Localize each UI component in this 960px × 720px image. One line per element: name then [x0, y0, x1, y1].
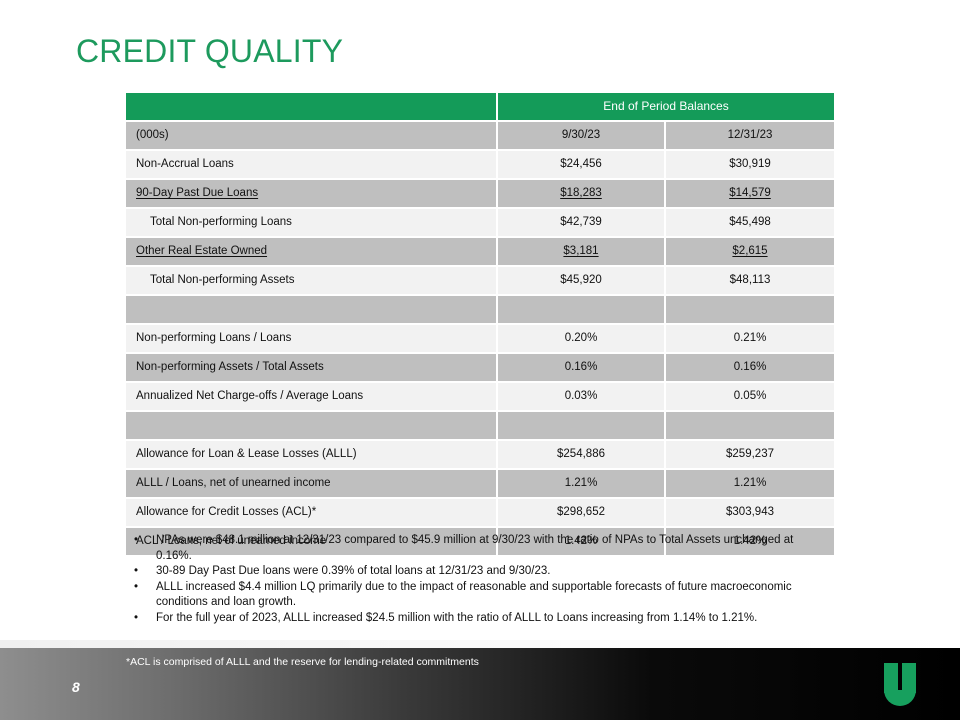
row-value-col1: 0.20%: [498, 325, 666, 354]
row-label: [126, 296, 498, 325]
row-value-col2: $30,919: [666, 151, 834, 180]
row-label: Total Non-performing Loans: [126, 209, 498, 238]
row-value-col1: 0.03%: [498, 383, 666, 412]
logo-bar-left: [884, 663, 898, 693]
table-row: ALLL / Loans, net of unearned income1.21…: [126, 470, 834, 499]
page-number: 8: [72, 679, 80, 695]
table-row: (000s)9/30/2312/31/23: [126, 122, 834, 151]
table-row: Total Non-performing Assets$45,920$48,11…: [126, 267, 834, 296]
row-value-col2: 0.21%: [666, 325, 834, 354]
row-value-col2: $303,943: [666, 499, 834, 528]
table-header-row: End of Period Balances: [126, 93, 834, 122]
bullet-item: •For the full year of 2023, ALLL increas…: [128, 611, 828, 627]
row-value-col2: 0.05%: [666, 383, 834, 412]
row-value-col1: 0.16%: [498, 354, 666, 383]
row-label: Allowance for Credit Losses (ACL)*: [126, 499, 498, 528]
row-label: Total Non-performing Assets: [126, 267, 498, 296]
header-group-label: End of Period Balances: [498, 93, 834, 122]
table-row: Other Real Estate Owned$3,181$2,615: [126, 238, 834, 267]
row-value-text: $2,615: [732, 245, 767, 257]
bullet-marker-icon: •: [128, 611, 156, 627]
page-title: CREDIT QUALITY: [76, 33, 343, 70]
row-value-col1: $42,739: [498, 209, 666, 238]
table-row: 90-Day Past Due Loans$18,283$14,579: [126, 180, 834, 209]
row-value-col2: 12/31/23: [666, 122, 834, 151]
row-label-text: Other Real Estate Owned: [136, 245, 267, 257]
row-value-col1: $45,920: [498, 267, 666, 296]
row-value-col1: $3,181: [498, 238, 666, 267]
logo-bar-right: [902, 663, 916, 693]
row-value-col2: $259,237: [666, 441, 834, 470]
row-value-col1: [498, 412, 666, 441]
row-label: 90-Day Past Due Loans: [126, 180, 498, 209]
row-value-col2: [666, 412, 834, 441]
row-value-col1: $254,886: [498, 441, 666, 470]
company-logo-icon: [884, 663, 920, 709]
row-value-text: $14,579: [729, 187, 771, 199]
table-row: Total Non-performing Loans$42,739$45,498: [126, 209, 834, 238]
bullet-item: •30-89 Day Past Due loans were 0.39% of …: [128, 564, 828, 580]
table-row: Non-Accrual Loans$24,456$30,919: [126, 151, 834, 180]
row-value-col1: $298,652: [498, 499, 666, 528]
row-value-col2: $14,579: [666, 180, 834, 209]
footnote-text: *ACL is comprised of ALLL and the reserv…: [126, 656, 479, 668]
row-value-col2: $2,615: [666, 238, 834, 267]
logo-bowl: [884, 690, 916, 706]
bullet-marker-icon: •: [128, 564, 156, 580]
row-value-col2: 1.21%: [666, 470, 834, 499]
row-value-col1: 1.21%: [498, 470, 666, 499]
table-row: Allowance for Credit Losses (ACL)*$298,6…: [126, 499, 834, 528]
row-value-col1: 9/30/23: [498, 122, 666, 151]
table-row: Annualized Net Charge-offs / Average Loa…: [126, 383, 834, 412]
row-value-col1: $24,456: [498, 151, 666, 180]
table-body: End of Period Balances (000s)9/30/2312/3…: [126, 93, 834, 557]
row-label: Non-performing Loans / Loans: [126, 325, 498, 354]
row-label: ALLL / Loans, net of unearned income: [126, 470, 498, 499]
credit-quality-table: End of Period Balances (000s)9/30/2312/3…: [126, 93, 834, 557]
bullet-item: •NPAs were $48.1 million at 12/31/23 com…: [128, 533, 828, 564]
slide-canvas: CREDIT QUALITY End of Period Balances (0…: [0, 0, 960, 720]
row-value-col1: $18,283: [498, 180, 666, 209]
row-value-col2: $45,498: [666, 209, 834, 238]
bullet-list: •NPAs were $48.1 million at 12/31/23 com…: [128, 533, 828, 626]
row-label: (000s): [126, 122, 498, 151]
bullet-text: 30-89 Day Past Due loans were 0.39% of t…: [156, 564, 828, 580]
table-row: Non-performing Assets / Total Assets0.16…: [126, 354, 834, 383]
header-blank-cell: [126, 93, 498, 122]
row-label: Annualized Net Charge-offs / Average Loa…: [126, 383, 498, 412]
bullet-marker-icon: •: [128, 533, 156, 549]
bullet-marker-icon: •: [128, 580, 156, 596]
bullet-item: •ALLL increased $4.4 million LQ primaril…: [128, 580, 828, 611]
bullet-text: For the full year of 2023, ALLL increase…: [156, 611, 828, 627]
table-spacer-row: [126, 296, 834, 325]
row-value-col2: [666, 296, 834, 325]
table-spacer-row: [126, 412, 834, 441]
row-value-col2: $48,113: [666, 267, 834, 296]
row-label: Other Real Estate Owned: [126, 238, 498, 267]
row-value-text: $3,181: [563, 245, 598, 257]
row-label: [126, 412, 498, 441]
row-value-text: $18,283: [560, 187, 602, 199]
row-label: Non-performing Assets / Total Assets: [126, 354, 498, 383]
row-label-text: 90-Day Past Due Loans: [136, 187, 258, 199]
row-value-col2: 0.16%: [666, 354, 834, 383]
footer-divider: [0, 640, 960, 648]
row-label: Non-Accrual Loans: [126, 151, 498, 180]
bullet-text: ALLL increased $4.4 million LQ primarily…: [156, 580, 828, 611]
table-row: Non-performing Loans / Loans0.20%0.21%: [126, 325, 834, 354]
table-row: Allowance for Loan & Lease Losses (ALLL)…: [126, 441, 834, 470]
bullet-text: NPAs were $48.1 million at 12/31/23 comp…: [156, 533, 828, 564]
row-label: Allowance for Loan & Lease Losses (ALLL): [126, 441, 498, 470]
row-value-col1: [498, 296, 666, 325]
